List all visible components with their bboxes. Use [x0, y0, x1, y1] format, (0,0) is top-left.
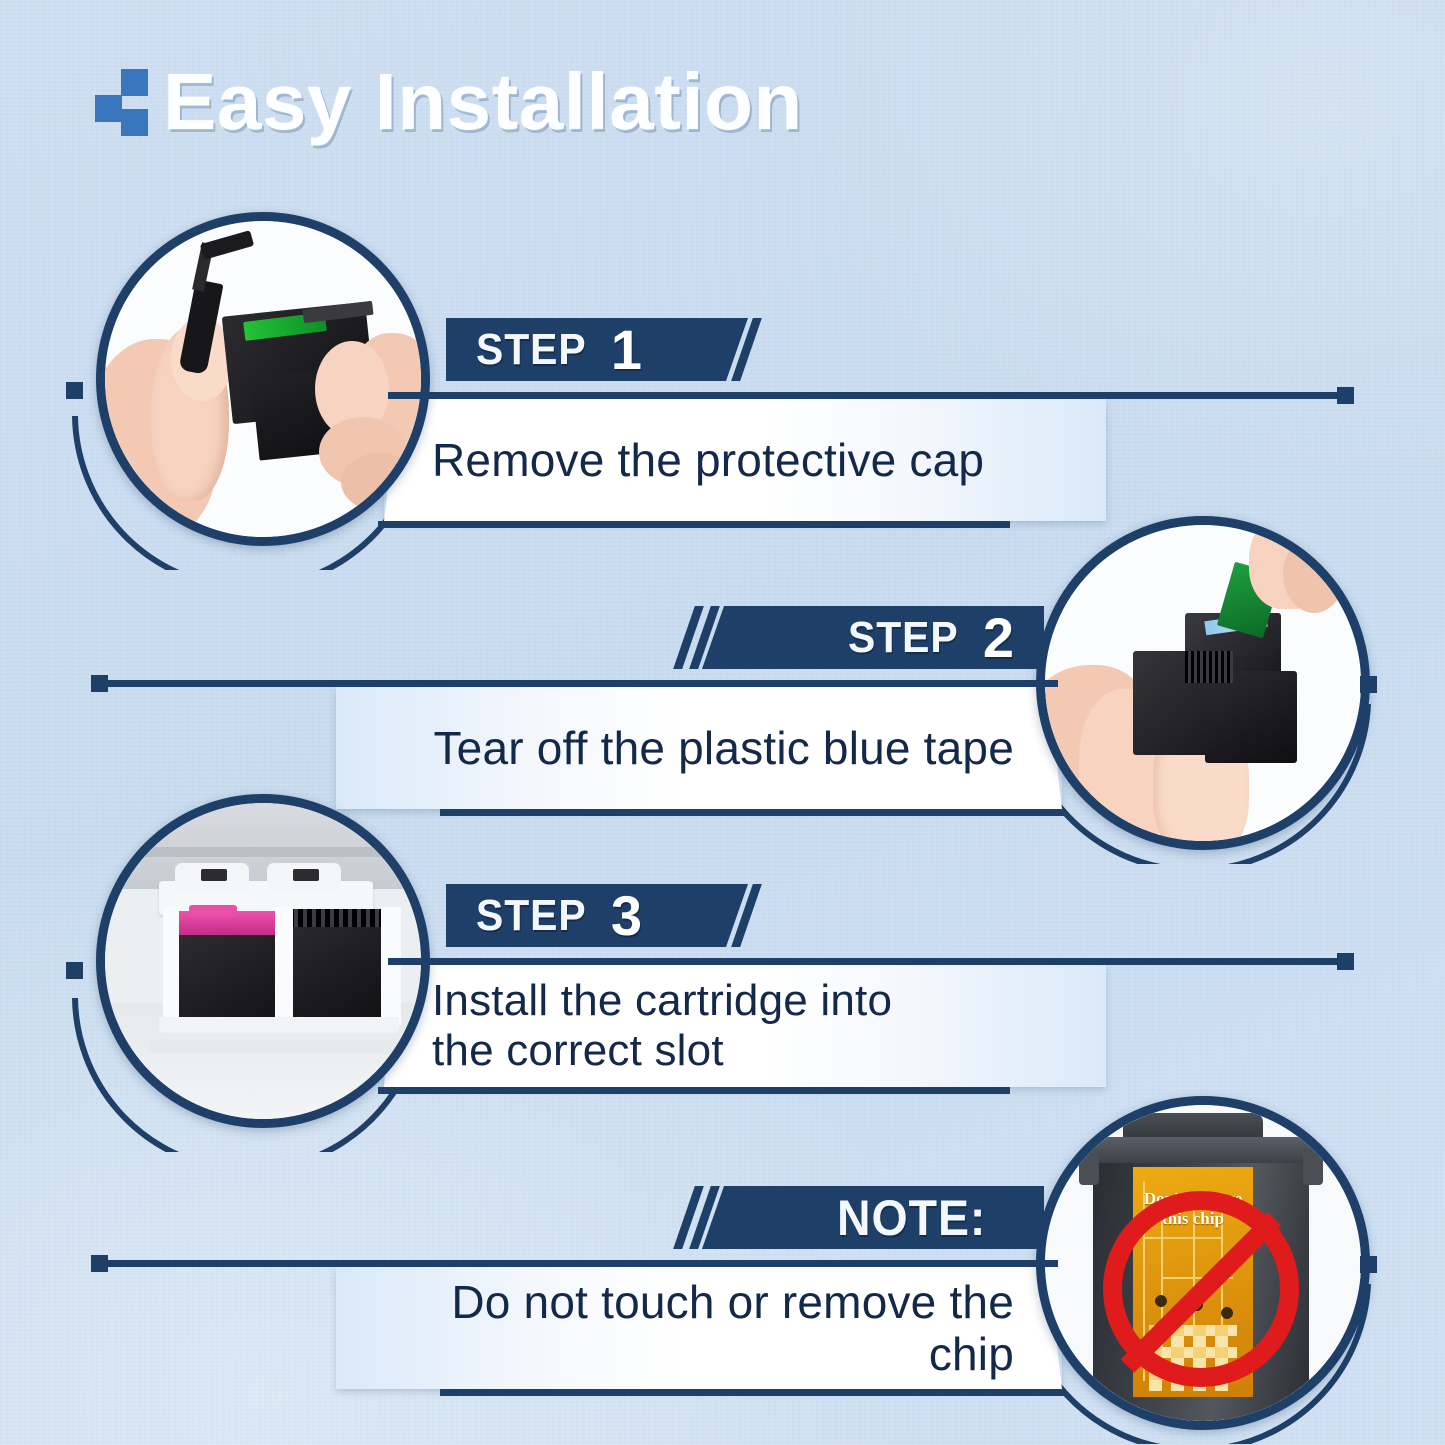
note-accent-slash [684, 1186, 714, 1249]
note-label: NOTE: [837, 1193, 986, 1243]
step-3-number: 3 [611, 890, 642, 942]
step-2-number: 2 [983, 612, 1014, 664]
brand-squares-icon [95, 69, 149, 135]
step-1-accent-slash [726, 318, 756, 381]
step-2-panel: Tear off the plastic blue tape [336, 687, 1062, 809]
step-2-label: STEP [848, 616, 959, 660]
step-1-label: STEP [476, 328, 587, 372]
step-1-bottom-rule [378, 521, 1010, 528]
step-2-arc-endpoint-right [1360, 676, 1377, 693]
step-3-panel: Install the cartridge into the correct s… [384, 965, 1106, 1087]
step-3-arc-endpoint [66, 962, 83, 979]
step-3-accent-slash [726, 884, 756, 947]
note-arc-endpoint-right [1360, 1256, 1377, 1273]
step-1-top-rule [388, 392, 1344, 399]
step-2-text: Tear off the plastic blue tape [356, 687, 1014, 809]
step-1-panel: Remove the protective cap [384, 399, 1106, 521]
step-3-rule-endpoint [1337, 953, 1354, 970]
step-1-rule-endpoint [1337, 387, 1354, 404]
page-title: Easy Installation [163, 62, 803, 142]
note-top-rule [98, 1260, 1058, 1267]
step-3-bottom-rule [378, 1087, 1010, 1094]
step-3-label: STEP [476, 894, 587, 938]
note-rule-endpoint [91, 1255, 108, 1272]
page-header: Easy Installation [95, 62, 803, 142]
step-2-photo [1036, 516, 1370, 850]
step-2-accent-slash [684, 606, 714, 669]
step-3-banner: STEP 3 [446, 884, 748, 947]
step-2-rule-endpoint [91, 675, 108, 692]
note-banner: NOTE: [702, 1186, 1044, 1249]
step-1-text: Remove the protective cap [432, 399, 1086, 521]
note-bottom-rule [440, 1389, 1066, 1396]
step-1-banner: STEP 1 [446, 318, 748, 381]
note-photo: Don't remove this chip [1036, 1096, 1370, 1430]
step-1-arc-endpoint [66, 382, 83, 399]
note-panel: Do not touch or remove the chip [336, 1267, 1062, 1389]
step-2-bottom-rule [440, 809, 1066, 816]
step-3-text: Install the cartridge into the correct s… [432, 965, 1086, 1087]
infographic-canvas: Easy Installation [0, 0, 1445, 1445]
step-3-photo [96, 794, 430, 1128]
step-1-photo [96, 212, 430, 546]
step-1-number: 1 [611, 324, 642, 376]
step-3-top-rule [388, 958, 1344, 965]
step-2-top-rule [98, 680, 1058, 687]
note-text: Do not touch or remove the chip [356, 1267, 1014, 1389]
step-2-banner: STEP 2 [702, 606, 1044, 669]
